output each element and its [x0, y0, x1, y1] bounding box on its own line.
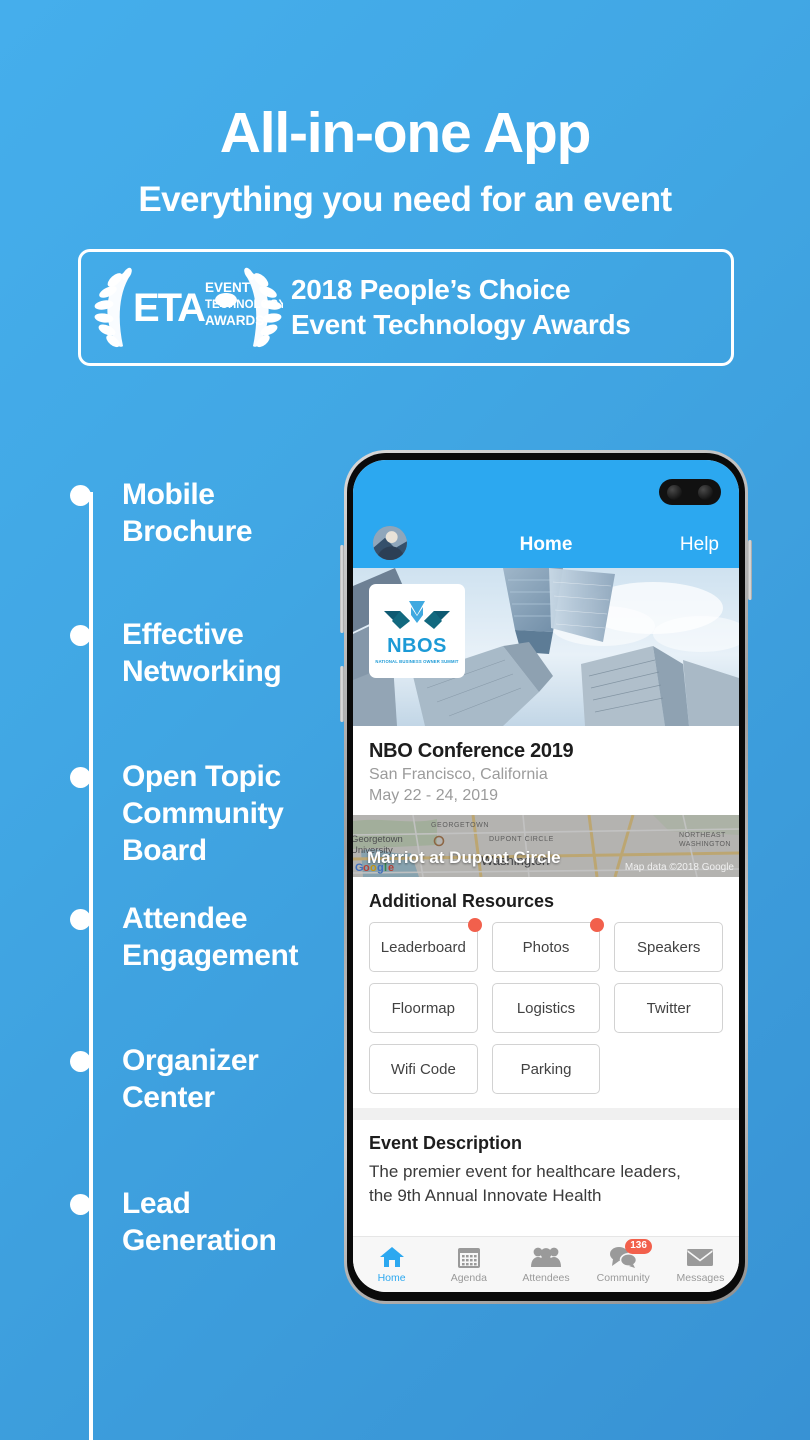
timeline-dot	[70, 485, 91, 506]
feature-label: Organizer Center	[122, 1043, 337, 1117]
volume-button[interactable]	[340, 545, 344, 633]
feature-label: Attendee Engagement	[122, 901, 337, 975]
description-line-1: The premier event for healthcare leaders…	[369, 1160, 723, 1184]
feature-item-effective-networking: Effective Networking	[70, 617, 337, 691]
resource-button-speakers[interactable]: Speakers	[614, 922, 723, 972]
event-info: NBO Conference 2019 San Francisco, Calif…	[353, 726, 739, 815]
nav-label: Attendees	[522, 1272, 569, 1284]
resource-label: Floormap	[392, 1000, 455, 1017]
nav-item-home[interactable]: Home	[353, 1237, 430, 1292]
nbos-wordmark: NBOS	[387, 636, 447, 656]
camera-lens-icon	[667, 485, 682, 500]
nav-label: Home	[378, 1272, 406, 1284]
event-title: NBO Conference 2019	[369, 740, 723, 763]
nav-item-agenda[interactable]: Agenda	[430, 1237, 507, 1292]
phone-mockup: Home Help	[344, 450, 748, 1304]
feature-item-mobile-brochure: Mobile Brochure	[70, 477, 337, 551]
nbos-mark-icon	[380, 599, 454, 633]
laurel-wreath-icon: ETA EVENT TECHNOLOGY AWARDS	[93, 258, 283, 362]
eta-word-technology: TECHNOLOGY	[205, 299, 283, 311]
resource-button-logistics[interactable]: Logistics	[492, 983, 601, 1033]
eta-word-awards: AWARDS	[205, 313, 264, 328]
resource-label: Parking	[521, 1061, 572, 1078]
front-camera-punch-hole	[659, 479, 721, 505]
venue-map[interactable]: GEORGETOWN DUPONT CIRCLE NORTHEAST WASHI…	[353, 815, 739, 877]
page-title: All-in-one App	[0, 104, 810, 164]
resource-button-wifi-code[interactable]: Wifi Code	[369, 1044, 478, 1094]
phone-screen: Home Help	[353, 460, 739, 1292]
resource-button-photos[interactable]: Photos	[492, 922, 601, 972]
resource-label: Leaderboard	[381, 939, 466, 956]
section-divider	[353, 1108, 739, 1120]
venue-name: Marriot at Dupont Circle	[367, 848, 561, 868]
help-button[interactable]: Help	[680, 534, 719, 556]
resource-label: Logistics	[517, 1000, 575, 1017]
award-caption-line1: 2018 People’s Choice	[291, 273, 631, 308]
feature-label: Open Topic Community Board	[122, 759, 337, 870]
notification-dot	[468, 918, 482, 932]
home-icon	[379, 1245, 405, 1269]
section-title: Additional Resources	[369, 891, 723, 912]
eta-word-event: EVENT	[205, 280, 251, 295]
resource-label: Twitter	[647, 1000, 691, 1017]
timeline-dot	[70, 767, 91, 788]
award-caption-line2: Event Technology Awards	[291, 308, 631, 343]
nbos-logo: NBOS NATIONAL BUSINESS OWNER SUMMIT	[369, 584, 465, 678]
resource-button-leaderboard[interactable]: Leaderboard	[369, 922, 478, 972]
event-dates: May 22 - 24, 2019	[369, 787, 723, 805]
feature-label: Mobile Brochure	[122, 477, 337, 551]
nav-label: Community	[597, 1272, 650, 1284]
resource-label: Wifi Code	[391, 1061, 456, 1078]
resource-button-floormap[interactable]: Floormap	[369, 983, 478, 1033]
power-button[interactable]	[748, 540, 752, 600]
event-hero-image: NBOS NATIONAL BUSINESS OWNER SUMMIT	[353, 568, 739, 726]
bixby-button[interactable]	[340, 666, 344, 722]
resource-button-parking[interactable]: Parking	[492, 1044, 601, 1094]
page-subtitle: Everything you need for an event	[0, 180, 810, 220]
resources-grid: Leaderboard Photos Speakers Floormap	[369, 922, 723, 1094]
calendar-icon	[457, 1245, 481, 1269]
event-location: San Francisco, California	[369, 766, 723, 784]
nbos-tagline: NATIONAL BUSINESS OWNER SUMMIT	[375, 659, 458, 664]
phone-body: Home Help	[347, 453, 745, 1301]
description-line-2: the 9th Annual Innovate Health	[369, 1184, 723, 1208]
app-header: Home Help	[353, 460, 739, 568]
resource-label: Speakers	[637, 939, 700, 956]
bottom-navigation: Home	[353, 1236, 739, 1292]
feature-item-attendee-engagement: Attendee Engagement	[70, 901, 337, 975]
event-description-section: Event Description The premier event for …	[353, 1120, 739, 1208]
feature-label: Effective Networking	[122, 617, 337, 691]
nav-item-community[interactable]: 136 Community	[585, 1237, 662, 1292]
nav-label: Agenda	[451, 1272, 487, 1284]
timeline-dot	[70, 1051, 91, 1072]
nav-item-messages[interactable]: Messages	[662, 1237, 739, 1292]
resource-button-twitter[interactable]: Twitter	[614, 983, 723, 1033]
timeline-dot	[70, 625, 91, 646]
map-credit: Map data ©2018 Google	[625, 862, 734, 873]
section-title: Event Description	[369, 1133, 723, 1154]
feature-item-open-topic-community-board: Open Topic Community Board	[70, 759, 337, 870]
feature-item-lead-generation: Lead Generation	[70, 1186, 337, 1260]
envelope-icon	[686, 1245, 714, 1269]
resource-label: Photos	[523, 939, 570, 956]
award-badge: ETA EVENT TECHNOLOGY AWARDS 2018 People’…	[78, 249, 734, 366]
notification-dot	[590, 918, 604, 932]
people-icon	[531, 1245, 561, 1269]
feature-item-organizer-center: Organizer Center	[70, 1043, 337, 1117]
eta-logo: ETA EVENT TECHNOLOGY AWARDS	[81, 252, 291, 363]
feature-label: Lead Generation	[122, 1186, 337, 1260]
nav-item-attendees[interactable]: Attendees	[507, 1237, 584, 1292]
additional-resources-section: Additional Resources Leaderboard Photos …	[353, 877, 739, 1108]
camera-lens-icon	[698, 485, 713, 500]
award-caption: 2018 People’s Choice Event Technology Aw…	[291, 273, 631, 342]
promo-poster: All-in-one App Everything you need for a…	[0, 0, 810, 1440]
timeline-dot	[70, 1194, 91, 1215]
eta-initials: ETA	[133, 286, 205, 330]
community-badge-count: 136	[625, 1239, 652, 1254]
nav-label: Messages	[676, 1272, 724, 1284]
timeline-dot	[70, 909, 91, 930]
